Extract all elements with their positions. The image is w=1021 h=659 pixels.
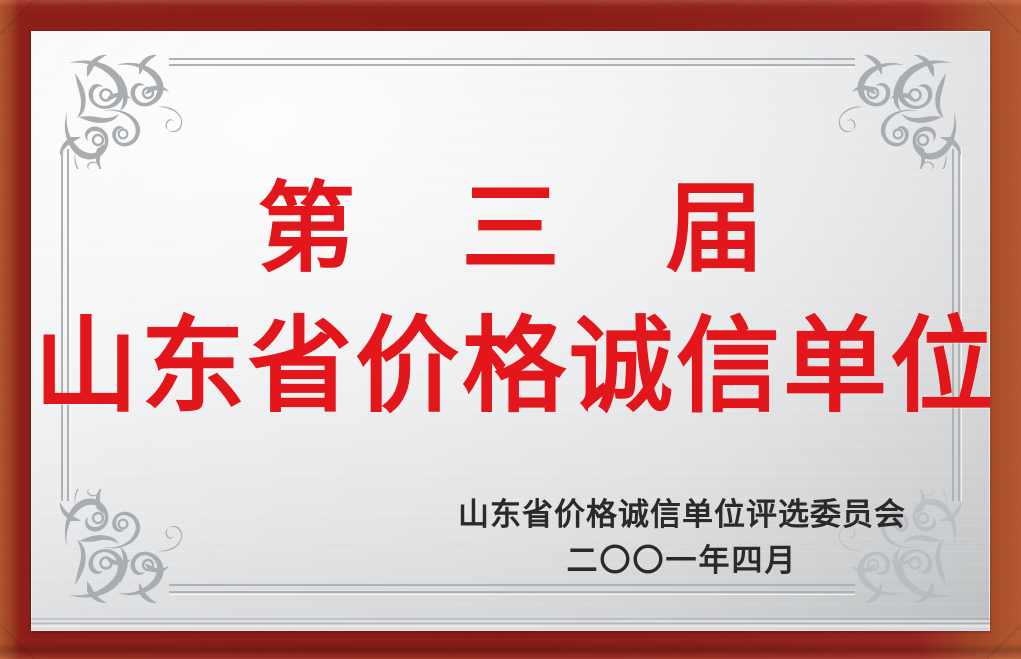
edition-heading: 第 三 届 [31,178,990,280]
frame-mitre-bottom-right [987,625,1021,659]
signature-block: 山东省价格诚信单位评选委员会 二〇〇一年四月 [458,497,906,581]
issuing-organization: 山东省价格诚信单位评选委员会 [458,497,906,535]
plaque-content: 第 三 届 山东省价格诚信单位 山东省价格诚信单位评选委员会 二〇〇一年四月 [31,31,990,631]
award-title: 山东省价格诚信单位 [31,310,990,422]
issue-date: 二〇〇一年四月 [458,543,906,581]
frame-mitre-bottom-left [0,625,34,659]
silver-plate: 第 三 届 山东省价格诚信单位 山东省价格诚信单位评选委员会 二〇〇一年四月 [31,31,990,631]
award-plaque: 第 三 届 山东省价格诚信单位 山东省价格诚信单位评选委员会 二〇〇一年四月 [0,0,1021,659]
frame-mitre-top-left [0,0,34,34]
frame-mitre-top-right [987,0,1021,34]
